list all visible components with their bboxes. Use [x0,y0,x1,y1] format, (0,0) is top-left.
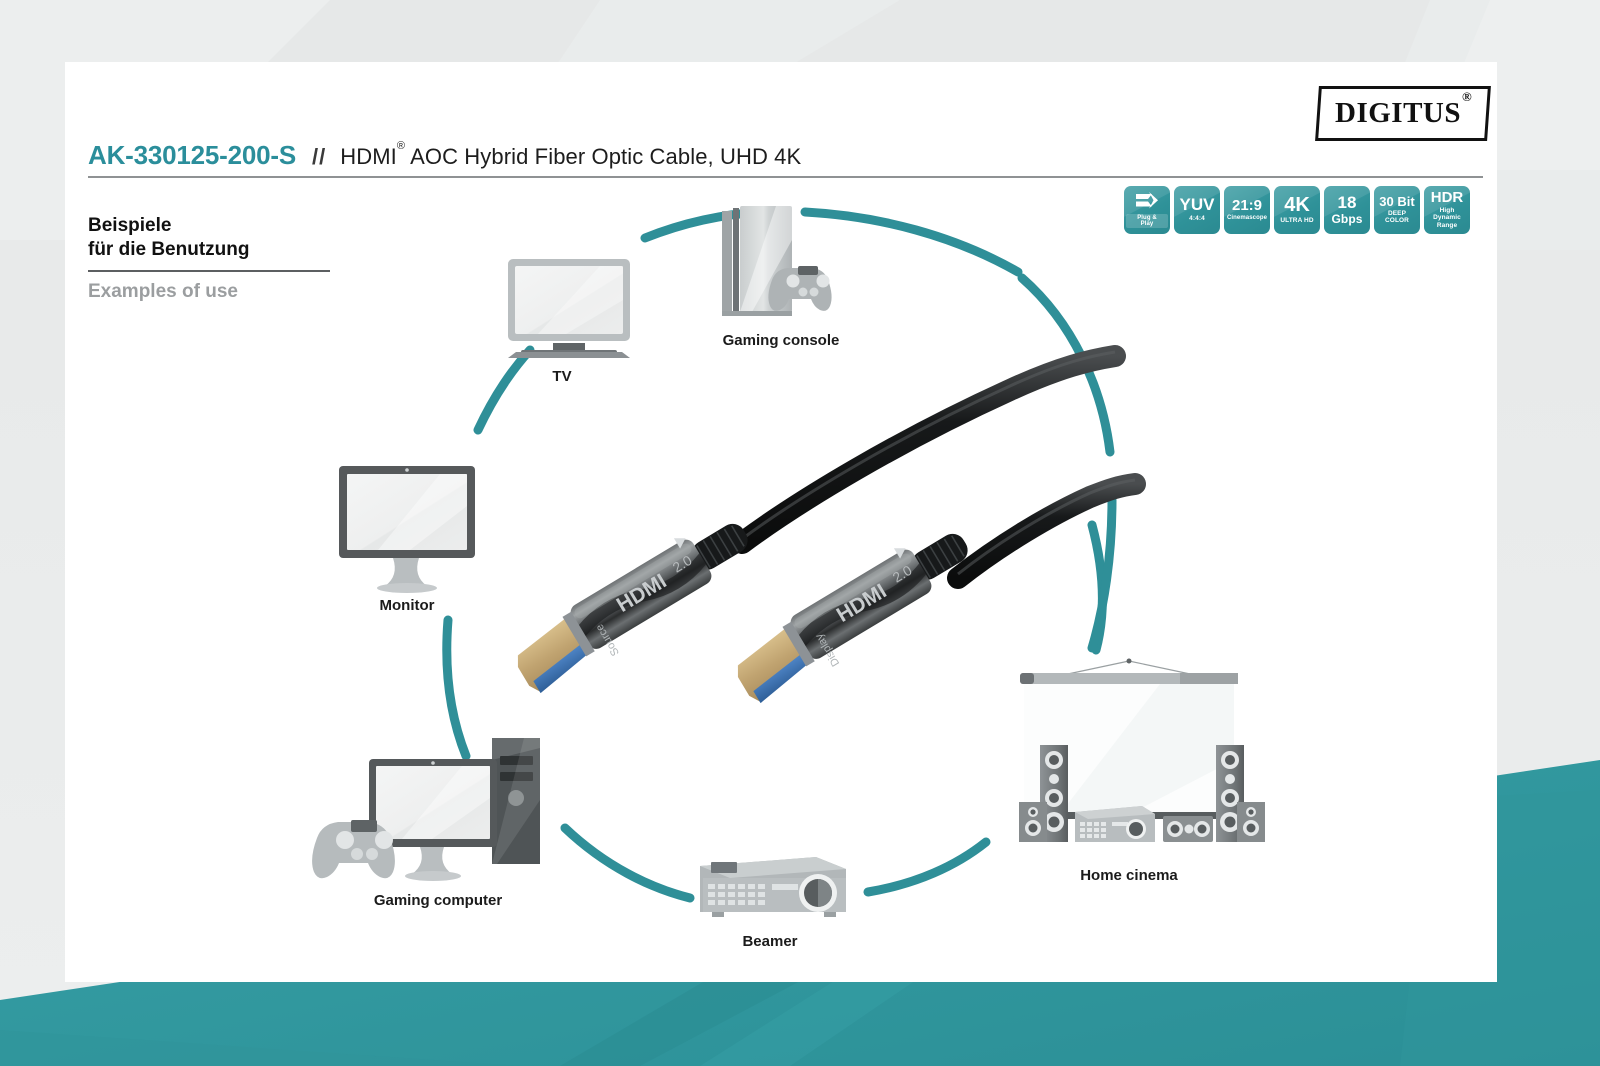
digitus-logo: DIGITUS® [1315,86,1491,141]
section-heading: Beispiele für die Benutzung Examples of … [88,214,338,303]
product-registered-mark: ® [397,140,405,152]
badge-ultra-hd-main: 4K [1284,195,1310,215]
badge-ultra-hd: 4K ULTRA HD [1274,186,1320,234]
product-name-rest: AOC Hybrid Fiber Optic Cable, UHD 4K [405,144,801,169]
registered-mark: ® [1462,89,1472,104]
badge-yuv: YUV 4:4:4 [1174,186,1220,234]
badge-bandwidth-sub: Gbps [1331,213,1362,226]
heading-german-line2: für die Benutzung [88,238,338,262]
feature-badges: Plug & Play YUV 4:4:4 21:9 Cinemascope 4… [1124,186,1470,234]
product-title-row: AK-330125-200-S // HDMI® AOC Hybrid Fibe… [88,140,1483,171]
logo-wordmark: DIGITUS [1335,97,1461,129]
badge-hdr: HDR High Dynamic Range [1424,186,1470,234]
badge-bandwidth-main: 18 [1338,194,1357,211]
badge-deep-color-main: 30 Bit [1379,195,1414,208]
badge-ultra-hd-sub: ULTRA HD [1280,217,1313,224]
title-divider [88,176,1483,178]
badge-hdr-main: HDR [1431,190,1464,205]
badge-yuv-sub: 4:4:4 [1189,215,1205,222]
badge-plug-and-play: Plug & Play [1124,186,1170,234]
badge-plug-and-play-label: Plug & Play [1126,214,1168,229]
badge-deep-color: 30 Bit DEEP COLOR [1374,186,1420,234]
badge-cinemascope: 21:9 Cinemascope [1224,186,1270,234]
product-sku: AK-330125-200-S [88,140,296,171]
badge-bandwidth: 18 Gbps [1324,186,1370,234]
heading-german-line1: Beispiele [88,214,338,238]
heading-divider [88,270,330,272]
play-arrow-icon [1135,191,1159,210]
title-separator: // [312,144,326,170]
badge-yuv-main: YUV [1180,196,1215,213]
product-name: HDMI [340,144,397,169]
badge-deep-color-sub: DEEP COLOR [1376,210,1418,224]
badge-hdr-sub: High Dynamic Range [1426,207,1468,228]
badge-cinemascope-main: 21:9 [1232,198,1262,213]
badge-cinemascope-sub: Cinemascope [1227,215,1267,221]
heading-english: Examples of use [88,281,338,304]
